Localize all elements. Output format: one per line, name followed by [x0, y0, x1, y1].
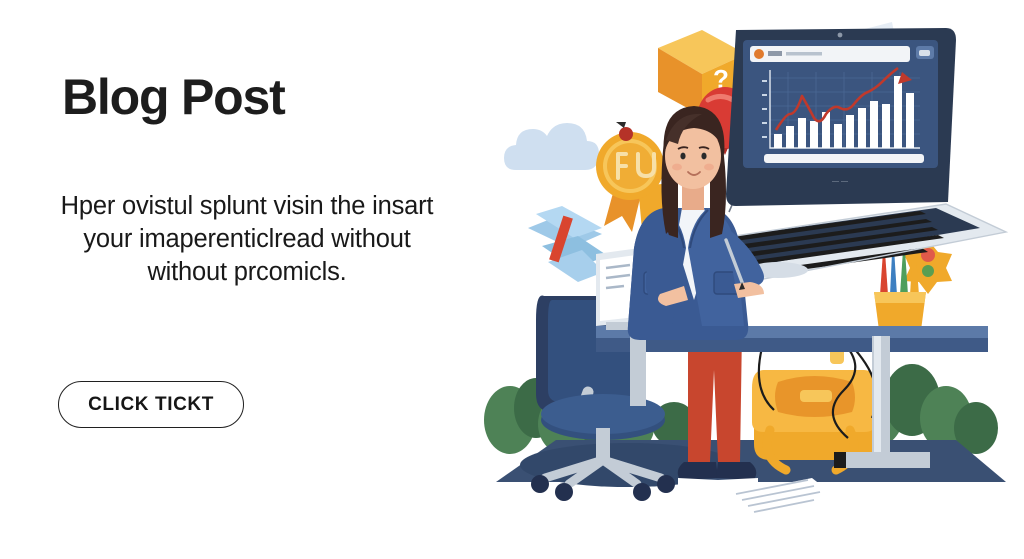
text-panel: Blog Post Hper ovistul splunt visin the …: [0, 0, 480, 559]
webcam-icon: [838, 33, 843, 38]
blog-post-hero-banner: Blog Post Hper ovistul splunt visin the …: [0, 0, 1024, 559]
hero-illustration: ? !: [478, 0, 1024, 559]
cloud-icon: [504, 123, 599, 170]
eye-right: [701, 153, 706, 160]
eye-left: [680, 153, 685, 160]
page-title: Blog Post: [62, 72, 285, 122]
click-ticket-button[interactable]: CLICK TICKT: [58, 381, 244, 428]
laptop-brand-mark: — —: [832, 178, 848, 185]
body-copy: Hper ovistul splunt visin the insart you…: [42, 190, 452, 289]
cta-button-label: CLICK TICKT: [88, 394, 214, 416]
